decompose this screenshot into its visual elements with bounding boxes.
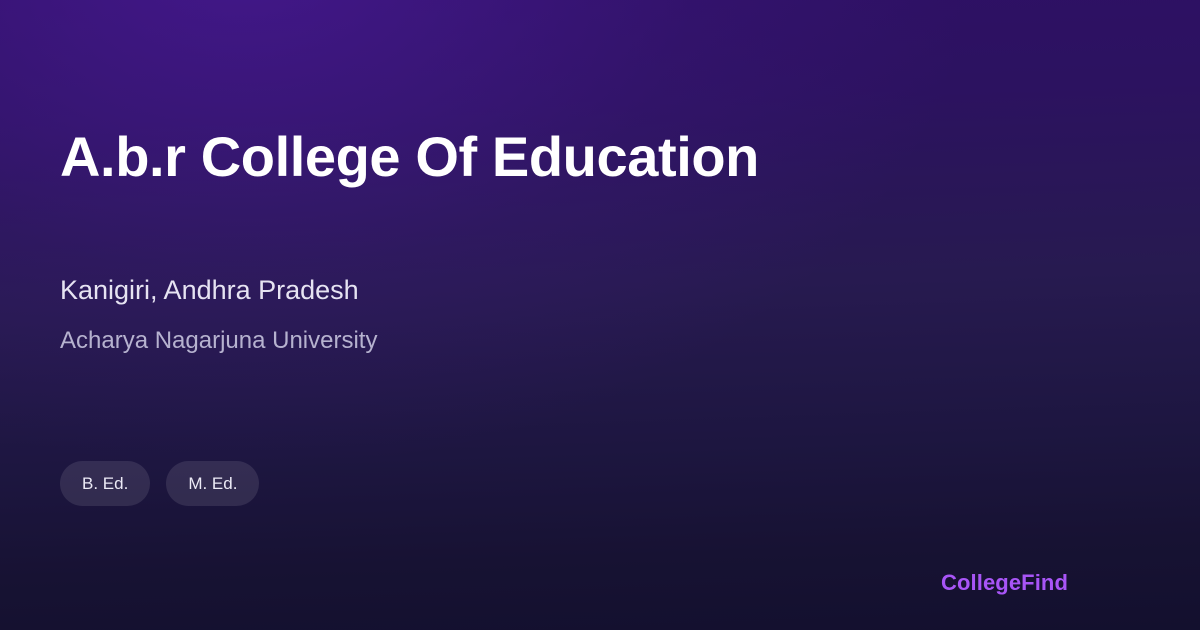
card-content: A.b.r College Of Education Kanigiri, And… bbox=[0, 0, 1200, 630]
program-chip-list: B. Ed. M. Ed. bbox=[60, 461, 259, 506]
page-title: A.b.r College Of Education bbox=[60, 126, 759, 189]
program-chip-b-ed: B. Ed. bbox=[60, 461, 150, 506]
brand-wordmark: CollegeFind bbox=[941, 570, 1068, 596]
program-chip-m-ed: M. Ed. bbox=[166, 461, 259, 506]
college-affiliation: Acharya Nagarjuna University bbox=[60, 327, 377, 356]
social-share-card: A.b.r College Of Education Kanigiri, And… bbox=[0, 0, 1200, 630]
college-location: Kanigiri, Andhra Pradesh bbox=[60, 274, 359, 306]
